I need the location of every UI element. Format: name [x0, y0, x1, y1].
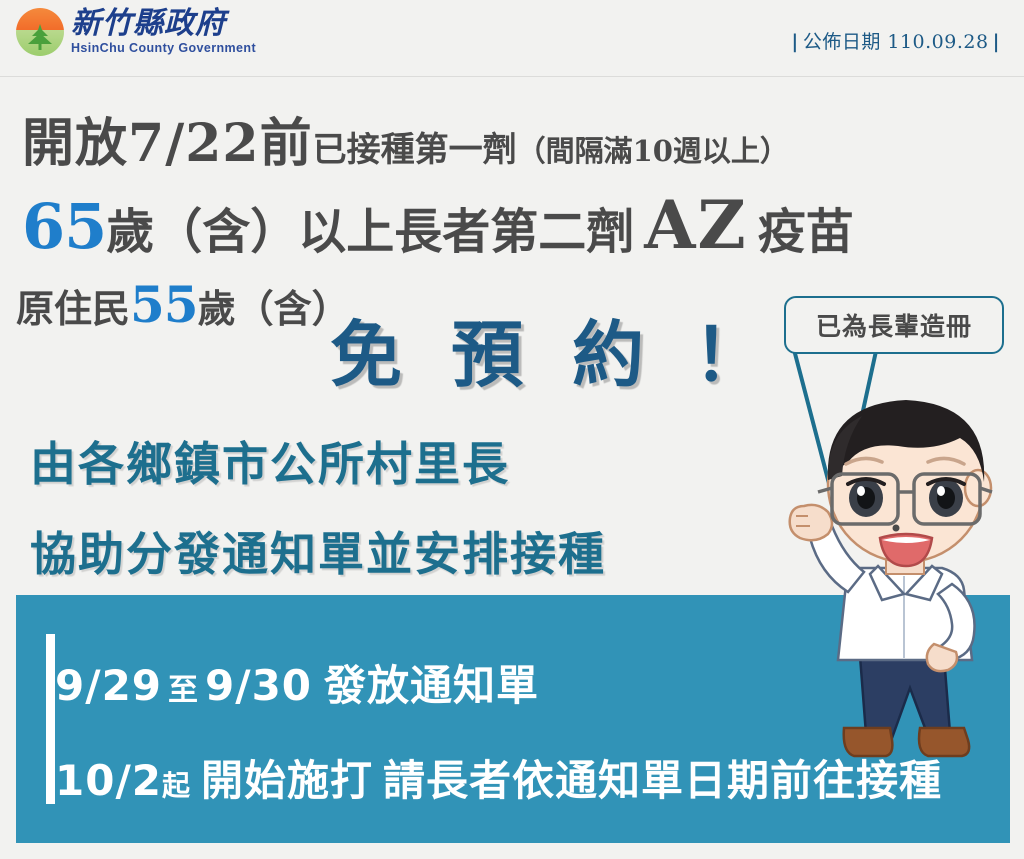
no-appointment-needed-heading: 免 預 約 ！ [330, 296, 777, 401]
age-65: 65 [22, 190, 106, 263]
agency-logo-text: 新竹縣政府 HsinChu County Government [71, 9, 256, 55]
indigenous-age-suffix: 歲（含） [198, 286, 350, 331]
headline-line-3: 原住民55歲（含） [16, 275, 350, 334]
vaccine-az: AZ [634, 186, 757, 264]
headline-date: 7/22 [128, 113, 260, 174]
publish-date-value: 110.09.28 [887, 31, 988, 53]
vaccination-start-date: 10/2 [55, 756, 162, 805]
date-divider-left: | [787, 31, 802, 53]
schedule-action-2: 開始施打 [191, 756, 373, 805]
header-bar: 新竹縣政府 HsinChu County Government |公佈日期 11… [0, 0, 1024, 77]
sun-leaf-emblem-icon [16, 8, 64, 56]
agency-logo: 新竹縣政府 HsinChu County Government [16, 8, 256, 56]
headline-first-dose: 已接種第一劑 [313, 130, 517, 170]
agency-name-cn: 新竹縣政府 [71, 9, 256, 39]
schedule-accent-bar [46, 634, 55, 804]
schedule-end-date: 9/30 [205, 661, 312, 710]
distribution-line-1: 由各鄉鎮市公所村里長 [30, 428, 510, 494]
distribution-line-2: 協助分發通知單並安排接種 [30, 518, 606, 584]
speech-bubble: 已為長輩造冊 [784, 296, 1004, 354]
schedule-to-word: 至 [162, 673, 205, 708]
publish-date-label: 公佈日期 [803, 31, 881, 53]
schedule-line-2: 10/2起開始施打請長者依通知單日期前往接種 [55, 747, 942, 808]
poster-root: 新竹縣政府 HsinChu County Government |公佈日期 11… [0, 0, 1024, 859]
headline-line-1: 開放7/22前已接種第一劑（間隔滿10週以上） [22, 101, 789, 176]
headline-before: 前 [260, 113, 313, 174]
headline-line-2: 65歲（含）以上長者第二劑AZ疫苗 [22, 186, 854, 264]
age-55: 55 [130, 275, 198, 334]
publish-date: |公佈日期 110.09.28| [787, 27, 1004, 54]
vaccine-word: 疫苗 [758, 204, 854, 260]
speech-bubble-text: 已為長輩造冊 [816, 307, 972, 343]
vaccination-since-word: 起 [162, 769, 191, 802]
schedule-action-1: 發放通知單 [312, 661, 539, 710]
agency-name-en: HsinChu County Government [71, 42, 256, 55]
schedule-start-date: 9/29 [55, 661, 162, 710]
speech-bubble-tail [770, 340, 900, 530]
indigenous-label: 原住民 [16, 286, 130, 331]
headline-open: 開放 [22, 113, 128, 174]
headline-interval-note: （間隔滿10週以上） [517, 134, 789, 168]
schedule-note-2: 請長者依通知單日期前往接種 [373, 756, 942, 805]
date-divider-right: | [989, 31, 1004, 53]
schedule-line-1: 9/29至9/30發放通知單 [55, 652, 539, 713]
elder-second-dose: 歲（含）以上長者第二劑 [106, 204, 634, 260]
